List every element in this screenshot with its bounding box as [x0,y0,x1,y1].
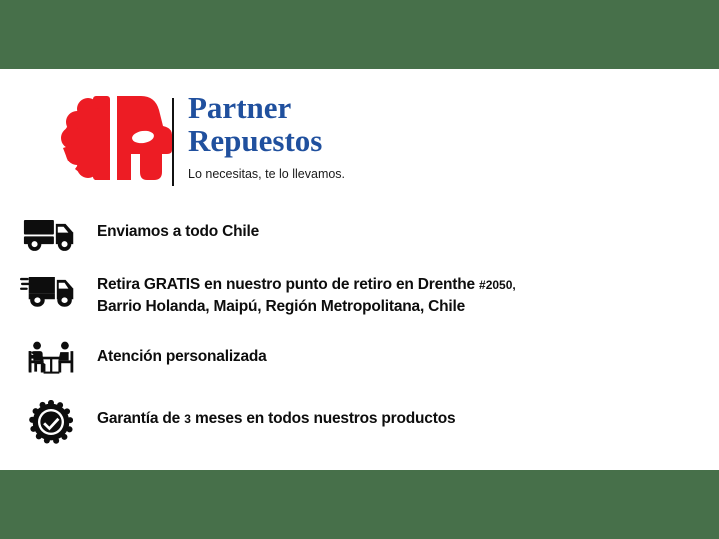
feature-warranty-text-a: Garantía de [97,410,184,427]
two-people-at-table-icon [20,340,82,379]
feature-row-support: Atención personalizada [20,340,700,379]
feature-row-shipping: Enviamos a todo Chile [20,216,700,253]
top-green-band [0,0,719,69]
delivery-truck-icon [20,216,82,253]
feature-pickup-street-number: #2050, [479,278,516,292]
bottom-green-band [0,470,719,539]
promo-banner: Partner Repuestos Lo necesitas, te lo ll… [0,0,719,539]
gear-and-car-icon [55,92,173,184]
feature-warranty-text: Garantía de 3 meses en todos nuestros pr… [82,400,700,430]
feature-pickup-line2: Barrio Holanda, Maipú, Región Metropolit… [97,298,465,315]
feature-support-text: Atención personalizada [82,340,700,368]
brand-name-line2: Repuestos [188,124,458,157]
feature-warranty-months: 3 [184,412,191,426]
brand-logo-block: Partner Repuestos Lo necesitas, te lo ll… [55,92,455,192]
feature-pickup-line1-main: Retira GRATIS en nuestro punto de retiro… [97,276,479,293]
feature-shipping-text: Enviamos a todo Chile [82,216,700,243]
verified-badge-check-icon [20,400,82,444]
feature-row-warranty: Garantía de 3 meses en todos nuestros pr… [20,400,700,444]
brand-name-line1: Partner [188,91,458,124]
brand-wordmark: Partner Repuestos Lo necesitas, te lo ll… [188,91,458,182]
feature-pickup-text: Retira GRATIS en nuestro punto de retiro… [82,272,700,318]
moving-delivery-truck-icon [20,272,82,309]
logo-divider [172,98,174,186]
feature-row-pickup: Retira GRATIS en nuestro punto de retiro… [20,272,700,318]
brand-tagline: Lo necesitas, te lo llevamos. [188,166,458,182]
feature-warranty-text-c: meses en todos nuestros productos [191,410,456,427]
